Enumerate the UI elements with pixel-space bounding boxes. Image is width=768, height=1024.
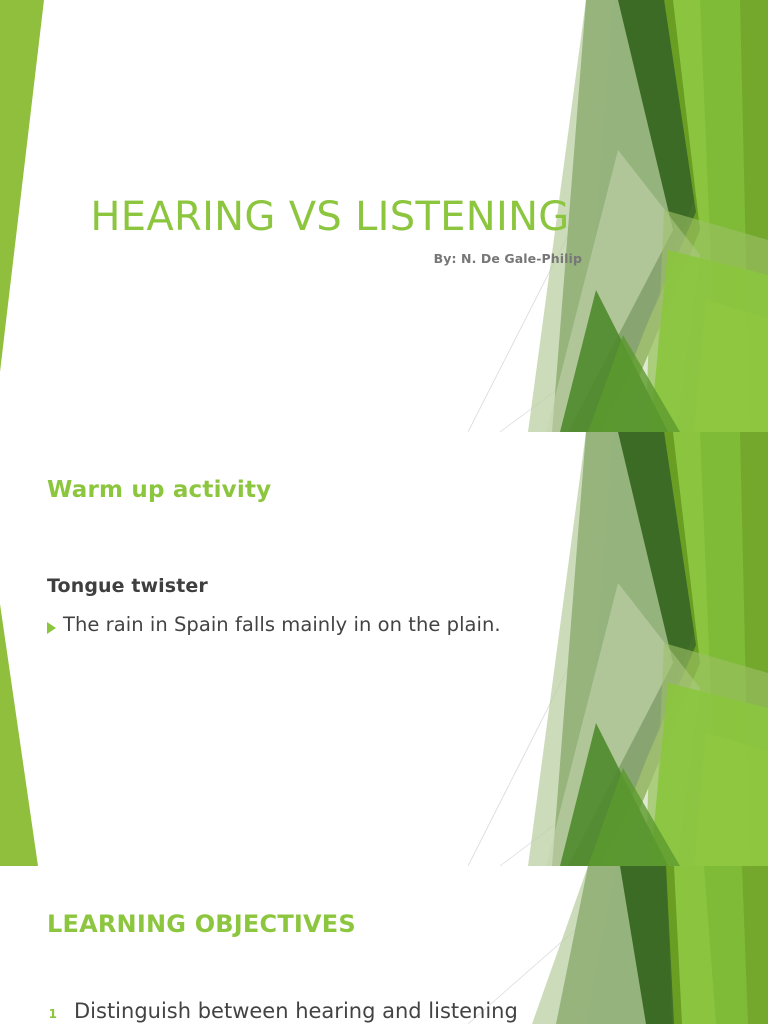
numbered-list-item: 1 Distinguish between hearing and listen…	[47, 999, 518, 1023]
triangle-bullet-icon	[47, 622, 56, 634]
list-number: 1	[47, 1007, 57, 1021]
title-block: HEARING VS LISTENING By: N. De Gale-Phil…	[70, 196, 590, 266]
bullet-list-item: The rain in Spain falls mainly in on the…	[47, 613, 501, 636]
bullet-item-text: The rain in Spain falls mainly in on the…	[63, 613, 501, 636]
numbered-item-text: Distinguish between hearing and listenin…	[74, 999, 518, 1023]
deck-title: HEARING VS LISTENING	[70, 196, 590, 239]
slide-2-heading: Warm up activity	[47, 477, 271, 503]
facet-decoration-graphic	[468, 432, 768, 866]
presentation-document: HEARING VS LISTENING By: N. De Gale-Phil…	[0, 0, 768, 1024]
left-accent-wedge	[0, 0, 48, 380]
tongue-twister-label: Tongue twister	[47, 575, 208, 597]
left-accent-wedge	[0, 604, 48, 866]
deck-subtitle-author: By: N. De Gale-Philip	[70, 251, 590, 266]
slide-1: HEARING VS LISTENING By: N. De Gale-Phil…	[0, 0, 768, 432]
left-accent-wedge	[0, 866, 44, 1024]
slide-3-heading: LEARNING OBJECTIVES	[47, 910, 356, 938]
